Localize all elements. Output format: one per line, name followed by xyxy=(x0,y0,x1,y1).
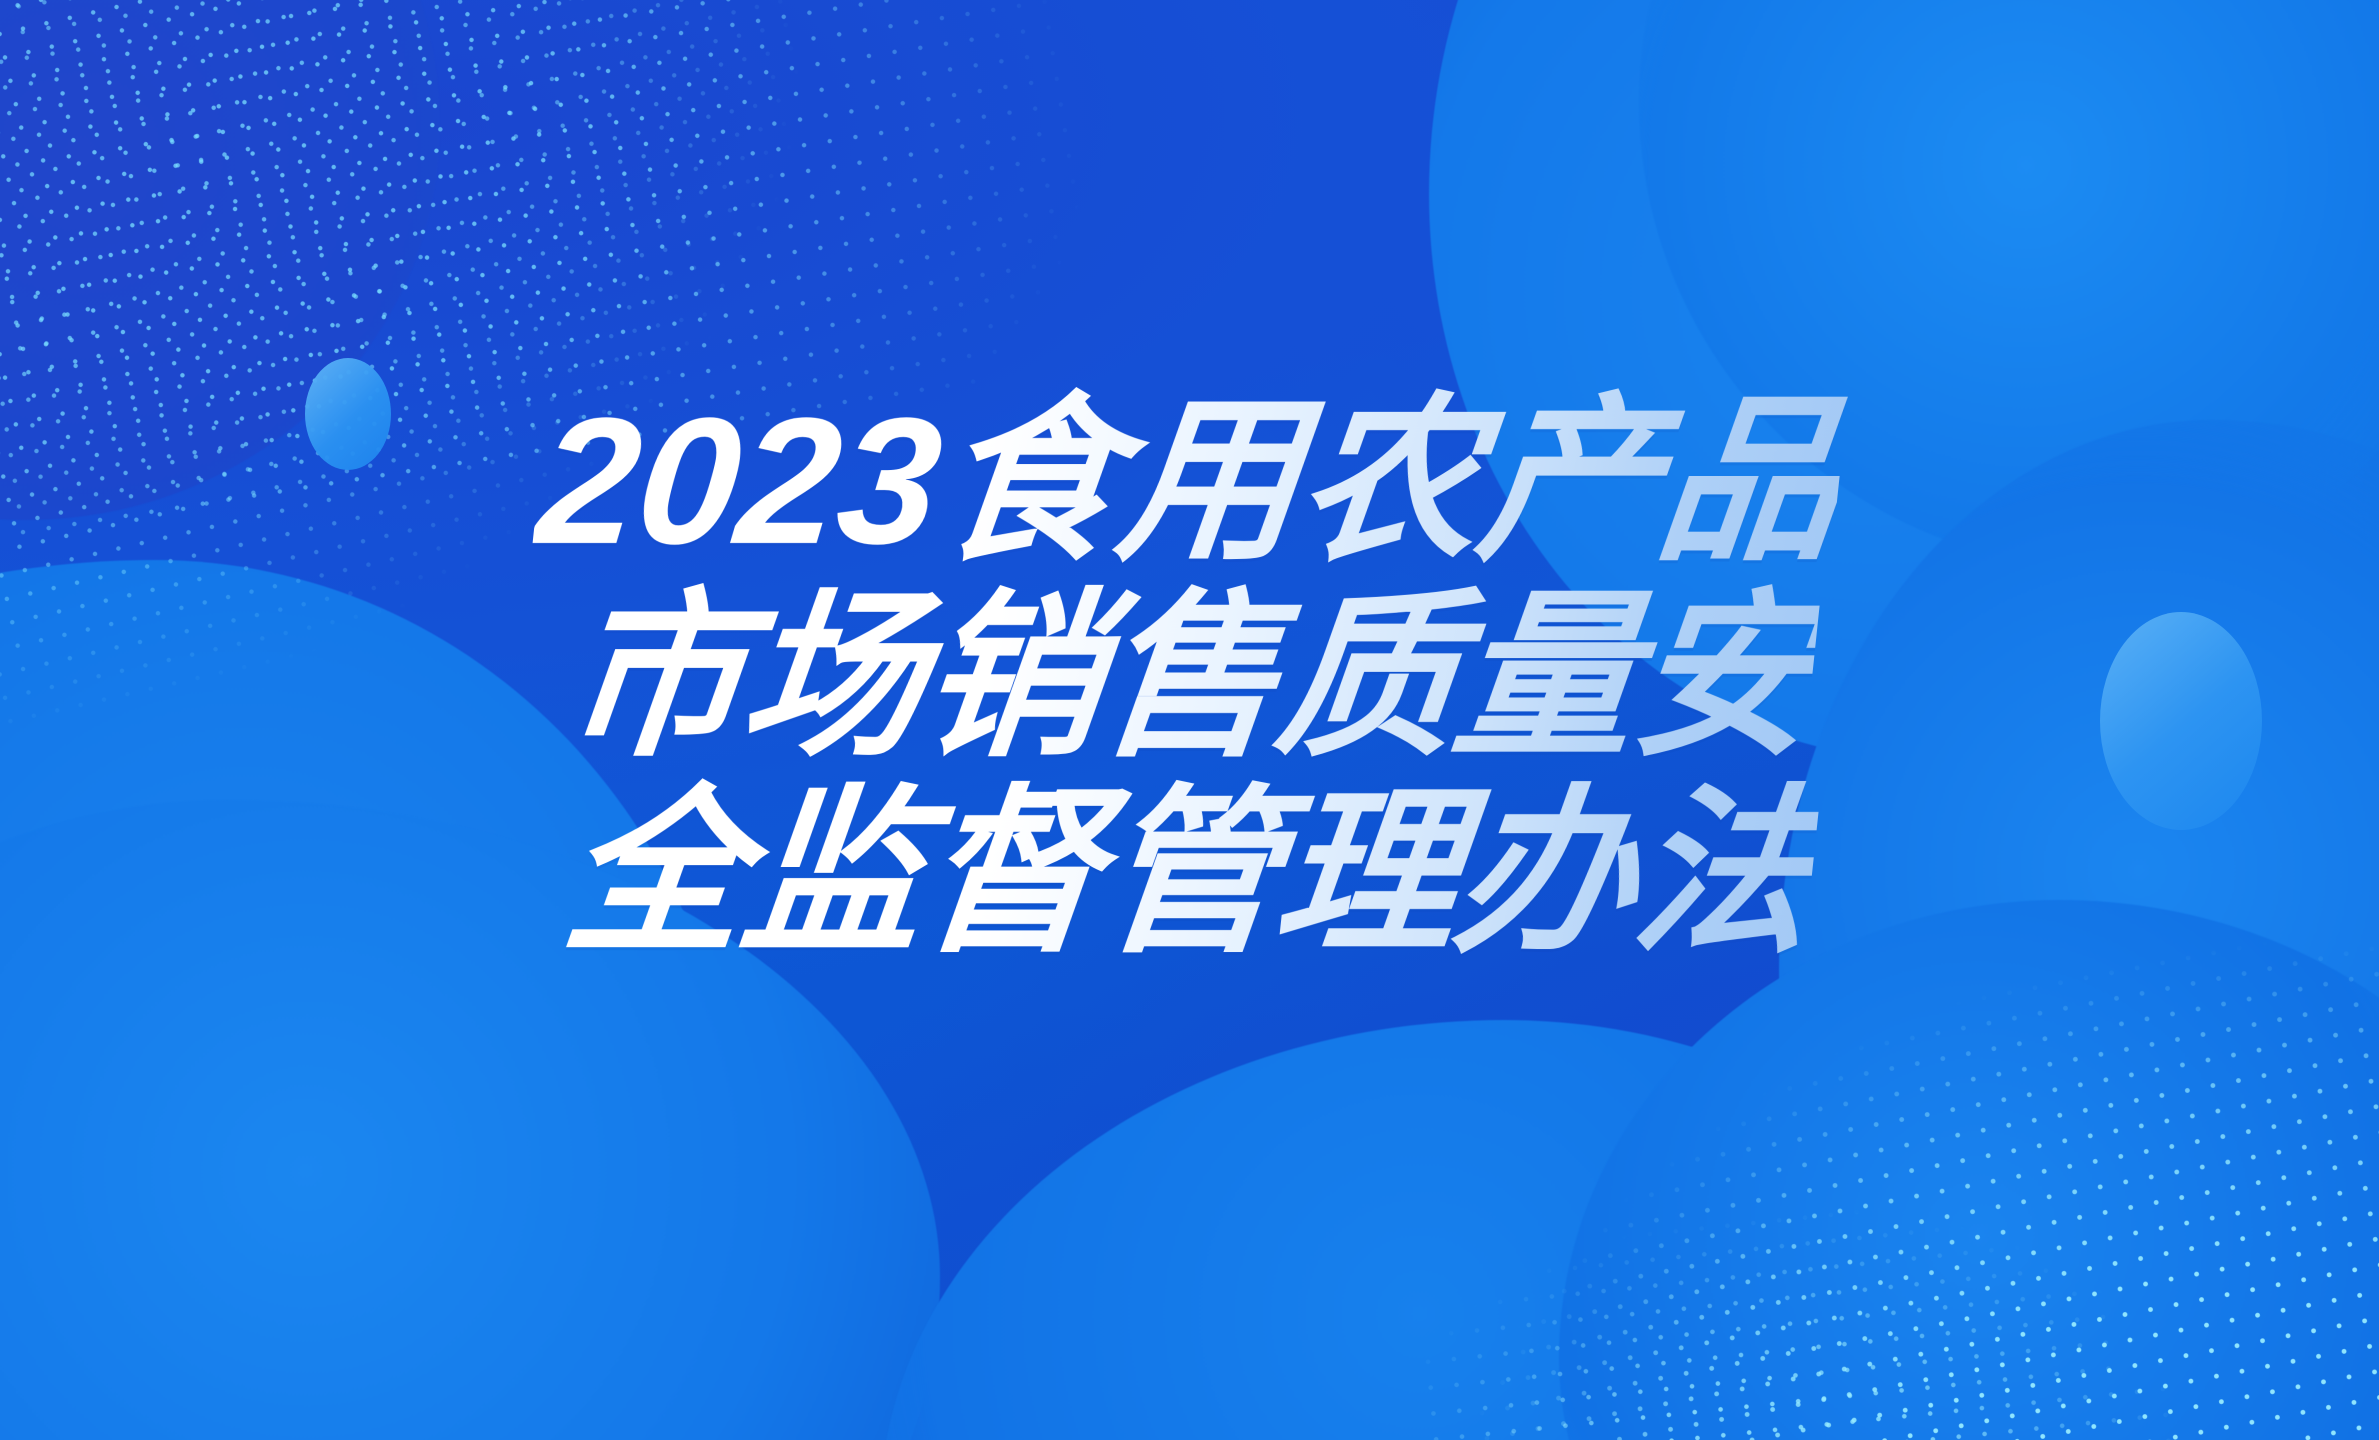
poster-canvas: 2023食用农产品 市场销售质量安 全监督管理办法 xyxy=(0,0,2379,1440)
accent-ellipse-large xyxy=(2100,612,2262,830)
accent-ellipse-small xyxy=(305,358,391,470)
